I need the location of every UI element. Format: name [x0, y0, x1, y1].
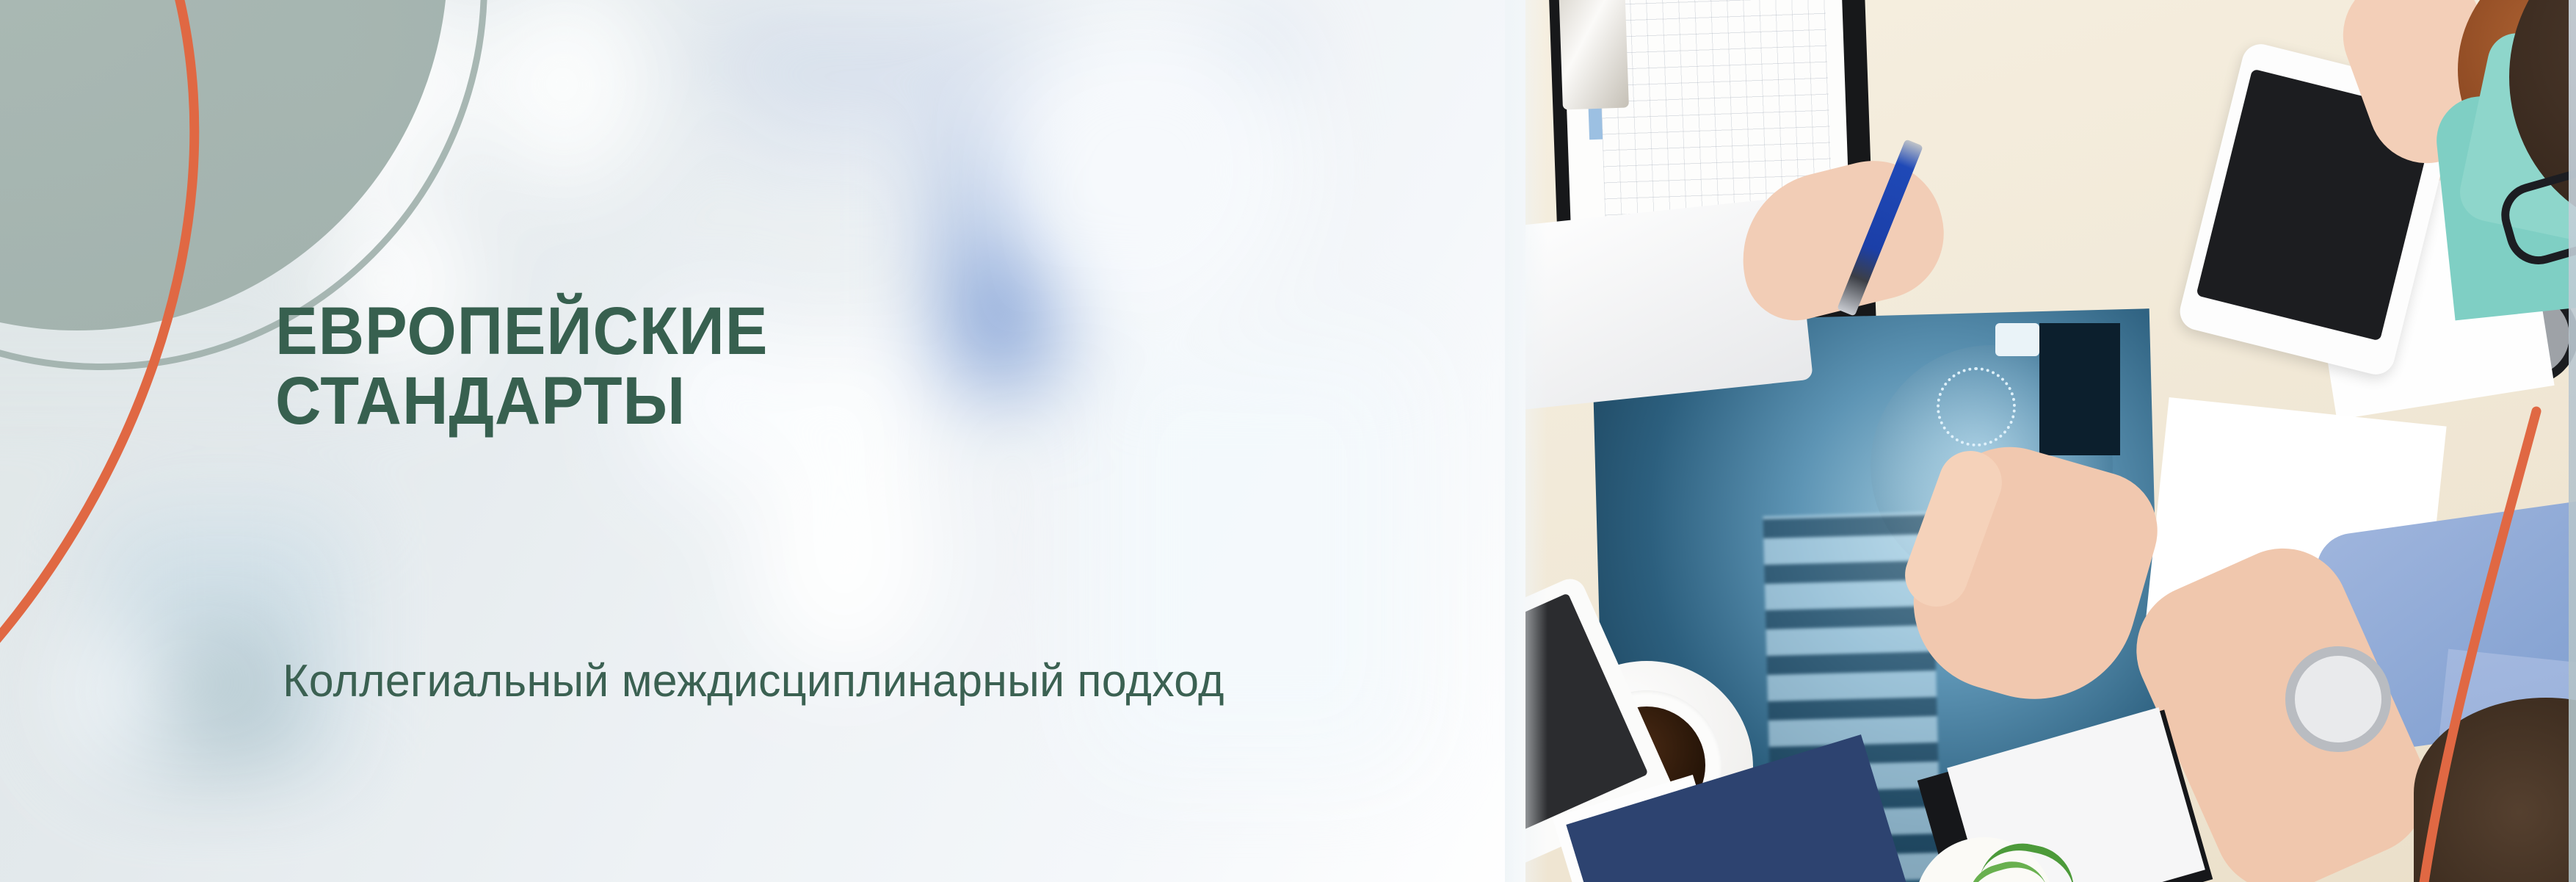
banner-copy: ЕВРОПЕЙСКИЕ СТАНДАРТЫ Коллегиальный межд…: [275, 297, 1538, 706]
orange-arc-left: [0, 0, 195, 661]
hero-banner: ЕВРОПЕЙСКИЕ СТАНДАРТЫ Коллегиальный межд…: [0, 0, 2576, 882]
page-title: ЕВРОПЕЙСКИЕ СТАНДАРТЫ: [275, 297, 1462, 436]
page-subtitle: Коллегиальный междисциплинарный подход: [283, 657, 1513, 706]
orange-arc-right: [2423, 411, 2536, 882]
